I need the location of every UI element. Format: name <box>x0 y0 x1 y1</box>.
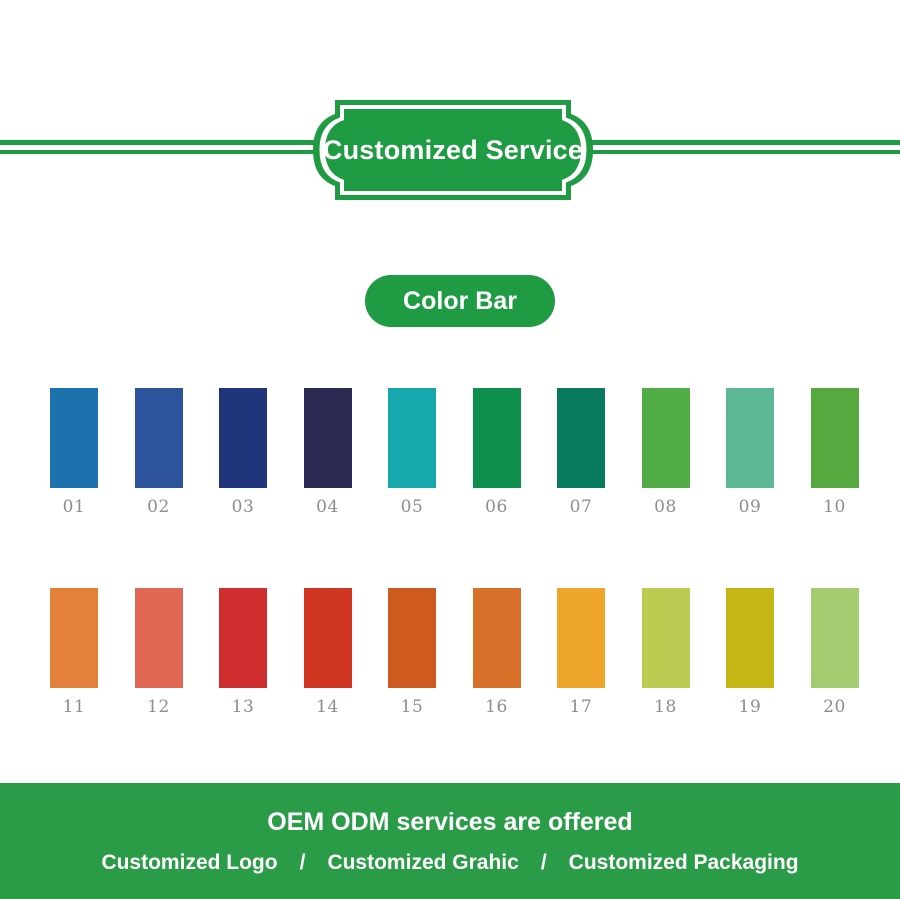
footer-item-logo: Customized Logo <box>101 851 277 875</box>
footer-item-graphic: Customized Grahic <box>327 851 518 875</box>
swatch-chip[interactable] <box>304 588 352 688</box>
swatch-label: 09 <box>739 497 762 517</box>
swatch-label: 19 <box>739 697 762 717</box>
swatch-cell[interactable]: 18 <box>642 588 690 718</box>
swatch-cell[interactable]: 03 <box>219 388 267 518</box>
swatch-label: 05 <box>401 497 424 517</box>
swatch-chip[interactable] <box>811 588 859 688</box>
swatch-label: 12 <box>147 697 170 717</box>
swatch-label: 17 <box>570 697 593 717</box>
swatch-label: 06 <box>485 497 508 517</box>
swatch-chip[interactable] <box>304 388 352 488</box>
swatch-cell[interactable]: 12 <box>135 588 183 718</box>
swatch-cell[interactable]: 13 <box>219 588 267 718</box>
swatch-cell[interactable]: 17 <box>557 588 605 718</box>
swatch-cell[interactable]: 06 <box>473 388 521 518</box>
swatch-cell[interactable]: 04 <box>304 388 352 518</box>
swatch-label: 18 <box>654 697 677 717</box>
swatch-label: 07 <box>570 497 593 517</box>
swatch-cell[interactable]: 05 <box>388 388 436 518</box>
footer-separator: / <box>300 851 306 875</box>
swatch-label: 14 <box>316 697 339 717</box>
swatch-label: 16 <box>485 697 508 717</box>
swatch-cell[interactable]: 07 <box>557 388 605 518</box>
swatch-chip[interactable] <box>388 588 436 688</box>
color-bar-section-pill: Color Bar <box>365 275 555 327</box>
swatch-chip[interactable] <box>557 388 605 488</box>
swatch-chip[interactable] <box>135 388 183 488</box>
swatch-chip[interactable] <box>473 388 521 488</box>
swatch-chip[interactable] <box>50 388 98 488</box>
footer-banner: OEM ODM services are offered Customized … <box>0 783 900 899</box>
swatch-chip[interactable] <box>642 588 690 688</box>
swatch-chip[interactable] <box>135 588 183 688</box>
footer-headline: OEM ODM services are offered <box>267 808 632 837</box>
swatch-cell[interactable]: 01 <box>50 388 98 518</box>
swatch-label: 13 <box>232 697 255 717</box>
swatch-cell[interactable]: 09 <box>726 388 774 518</box>
swatch-chip[interactable] <box>219 588 267 688</box>
title-plaque: Customized Service <box>313 100 593 200</box>
swatch-chip[interactable] <box>50 588 98 688</box>
header-area: Customized Service <box>0 0 900 260</box>
swatch-chip[interactable] <box>557 588 605 688</box>
swatch-row-1: 01 02 03 04 05 06 07 08 09 10 <box>50 388 850 518</box>
swatch-row-2: 11 12 13 14 15 16 17 18 19 20 <box>50 588 850 718</box>
swatch-label: 10 <box>823 497 846 517</box>
swatch-label: 20 <box>823 697 846 717</box>
swatch-label: 08 <box>654 497 677 517</box>
footer-item-packaging: Customized Packaging <box>569 851 799 875</box>
swatch-chip[interactable] <box>726 388 774 488</box>
swatch-cell[interactable]: 14 <box>304 588 352 718</box>
swatch-cell[interactable]: 19 <box>726 588 774 718</box>
footer-separator: / <box>541 851 547 875</box>
footer-service-list: Customized Logo / Customized Grahic / Cu… <box>101 851 798 875</box>
swatch-chip[interactable] <box>726 588 774 688</box>
swatch-chip[interactable] <box>473 588 521 688</box>
swatch-cell[interactable]: 08 <box>642 388 690 518</box>
swatch-label: 11 <box>63 697 86 717</box>
swatch-chip[interactable] <box>642 388 690 488</box>
swatch-label: 03 <box>232 497 255 517</box>
swatch-chip[interactable] <box>388 388 436 488</box>
swatch-cell[interactable]: 11 <box>50 588 98 718</box>
swatch-cell[interactable]: 20 <box>811 588 859 718</box>
swatch-cell[interactable]: 02 <box>135 388 183 518</box>
swatch-label: 01 <box>63 497 86 517</box>
swatch-chip[interactable] <box>219 388 267 488</box>
page-title: Customized Service <box>313 100 593 200</box>
swatch-label: 04 <box>316 497 339 517</box>
swatch-label: 02 <box>147 497 170 517</box>
swatch-cell[interactable]: 10 <box>811 388 859 518</box>
swatch-cell[interactable]: 16 <box>473 588 521 718</box>
swatch-cell[interactable]: 15 <box>388 588 436 718</box>
swatch-chip[interactable] <box>811 388 859 488</box>
swatch-label: 15 <box>401 697 424 717</box>
